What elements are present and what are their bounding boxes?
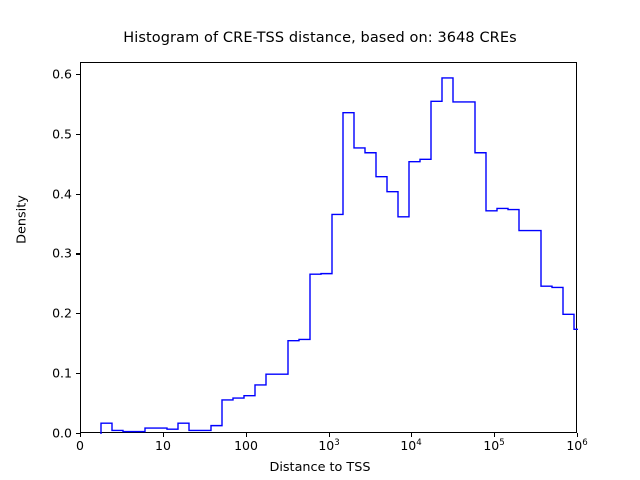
x-axis-ticks: 010100103104105106 [0,0,640,480]
x-tick-mark [80,433,81,437]
x-tick-mark [494,433,495,437]
x-tick-label: 100 [234,438,258,453]
y-tick-mark [76,134,80,135]
y-tick-mark [76,313,80,314]
x-tick-label: 10 [155,438,171,453]
x-tick-mark [246,433,247,437]
x-tick-mark [329,433,330,437]
x-tick-mark [163,433,164,437]
x-tick-label: 104 [400,438,421,453]
x-tick-label: 105 [483,438,504,453]
x-tick-label: 0 [76,438,84,453]
y-tick-mark [76,194,80,195]
y-tick-mark [76,373,80,374]
x-axis-label: Distance to TSS [0,460,640,475]
y-axis-label: Density [15,160,30,280]
y-tick-mark [76,74,80,75]
x-tick-mark [411,433,412,437]
x-tick-mark [577,433,578,437]
x-tick-label: 103 [318,438,339,453]
x-tick-label: 106 [566,438,587,453]
histogram-figure: Histogram of CRE-TSS distance, based on:… [0,0,640,480]
y-tick-mark [76,253,80,254]
